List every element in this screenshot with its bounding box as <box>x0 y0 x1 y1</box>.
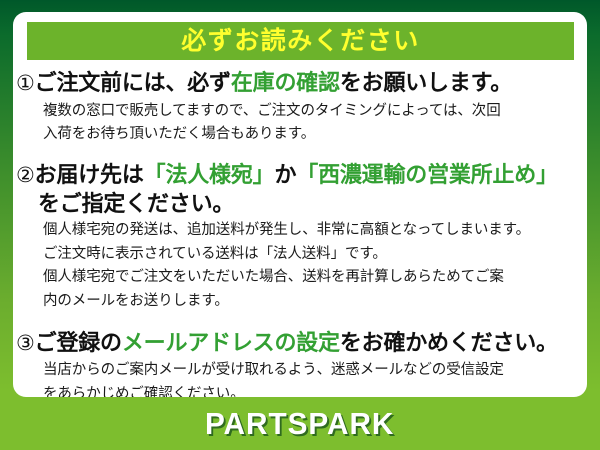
notice-item-body-line: 個人様宅宛でご注文をいただいた場合、送料を再計算しあらためてご案 <box>14 267 577 288</box>
item-heading-highlight-2b: 「西濃運輸の営業所止め」 <box>296 162 558 187</box>
notice-item: ②お届け先は「法人様宛」か「西濃運輸の営業所止め」 をご指定ください。 個人様宅… <box>13 160 587 312</box>
notice-item-body-line: 当店からのご案内メールが受け取れるよう、迷惑メールなどの受信設定 <box>14 360 577 381</box>
item-heading-pre-2: お届け先は <box>35 162 144 187</box>
notice-title: 必ずお読みください <box>181 29 420 54</box>
notice-card: 必ずお読みください ①ご注文前には、必ず在庫の確認をお願いします。 複数の窓口で… <box>13 12 587 397</box>
item-heading-pre-3: ご登録の <box>35 330 122 355</box>
notice-item-body-line: ご注文時に表示されている送料は「法人送料」です。 <box>14 244 577 265</box>
item-heading-pre-1: ご注文前には、必ず <box>35 70 231 95</box>
notice-item-body-line: 複数の窓口で販売してますので、ご注文のタイミングによっては、次回 <box>14 101 577 122</box>
notice-item-heading: ①ご注文前には、必ず在庫の確認をお願いします。 <box>14 68 577 98</box>
notice-item-heading: ②お届け先は「法人様宛」か「西濃運輸の営業所止め」 <box>14 160 577 190</box>
notice-item-heading-line2: をご指定ください。 <box>14 190 577 218</box>
item-heading-post-3: をお確かめください。 <box>340 330 558 355</box>
item-number-2: ② <box>16 164 35 187</box>
notice-item-body-line: 内のメールをお送りします。 <box>14 291 577 312</box>
item-number-1: ① <box>16 72 35 95</box>
notice-item: ③ご登録のメールアドレスの設定をお確かめください。 当店からのご案内メールが受け… <box>13 328 587 397</box>
notice-item-list: ①ご注文前には、必ず在庫の確認をお願いします。 複数の窓口で販売してますので、ご… <box>13 68 587 397</box>
notice-item: ①ご注文前には、必ず在庫の確認をお願いします。 複数の窓口で販売してますので、ご… <box>13 68 587 145</box>
notice-item-heading: ③ご登録のメールアドレスの設定をお確かめください。 <box>14 328 577 358</box>
notice-item-body-line: 個人様宅宛の発送は、追加送料が発生し、非常に高額となってしまいます。 <box>14 220 577 241</box>
item-heading-mid-2: か <box>274 162 296 187</box>
item-heading-highlight-2a: 「法人様宛」 <box>144 162 275 187</box>
item-heading-post-1: をお願いします。 <box>340 70 512 95</box>
item-number-3: ③ <box>16 332 35 355</box>
notice-banner: 必ずお読みください ①ご注文前には、必ず在庫の確認をお願いします。 複数の窓口で… <box>0 0 600 450</box>
item-heading-highlight-3: メールアドレスの設定 <box>122 330 340 355</box>
notice-title-bar: 必ずお読みください <box>27 22 574 60</box>
partspark-logo: PARTSPARK <box>205 408 394 439</box>
notice-item-body-line: をあらかじめご確認ください。 <box>14 384 577 397</box>
item-heading-highlight-1: 在庫の確認 <box>231 70 340 95</box>
notice-item-body-line: 入荷をお待ち頂いただく場合もあります。 <box>14 124 577 145</box>
footer-bar: PARTSPARK <box>0 397 600 450</box>
